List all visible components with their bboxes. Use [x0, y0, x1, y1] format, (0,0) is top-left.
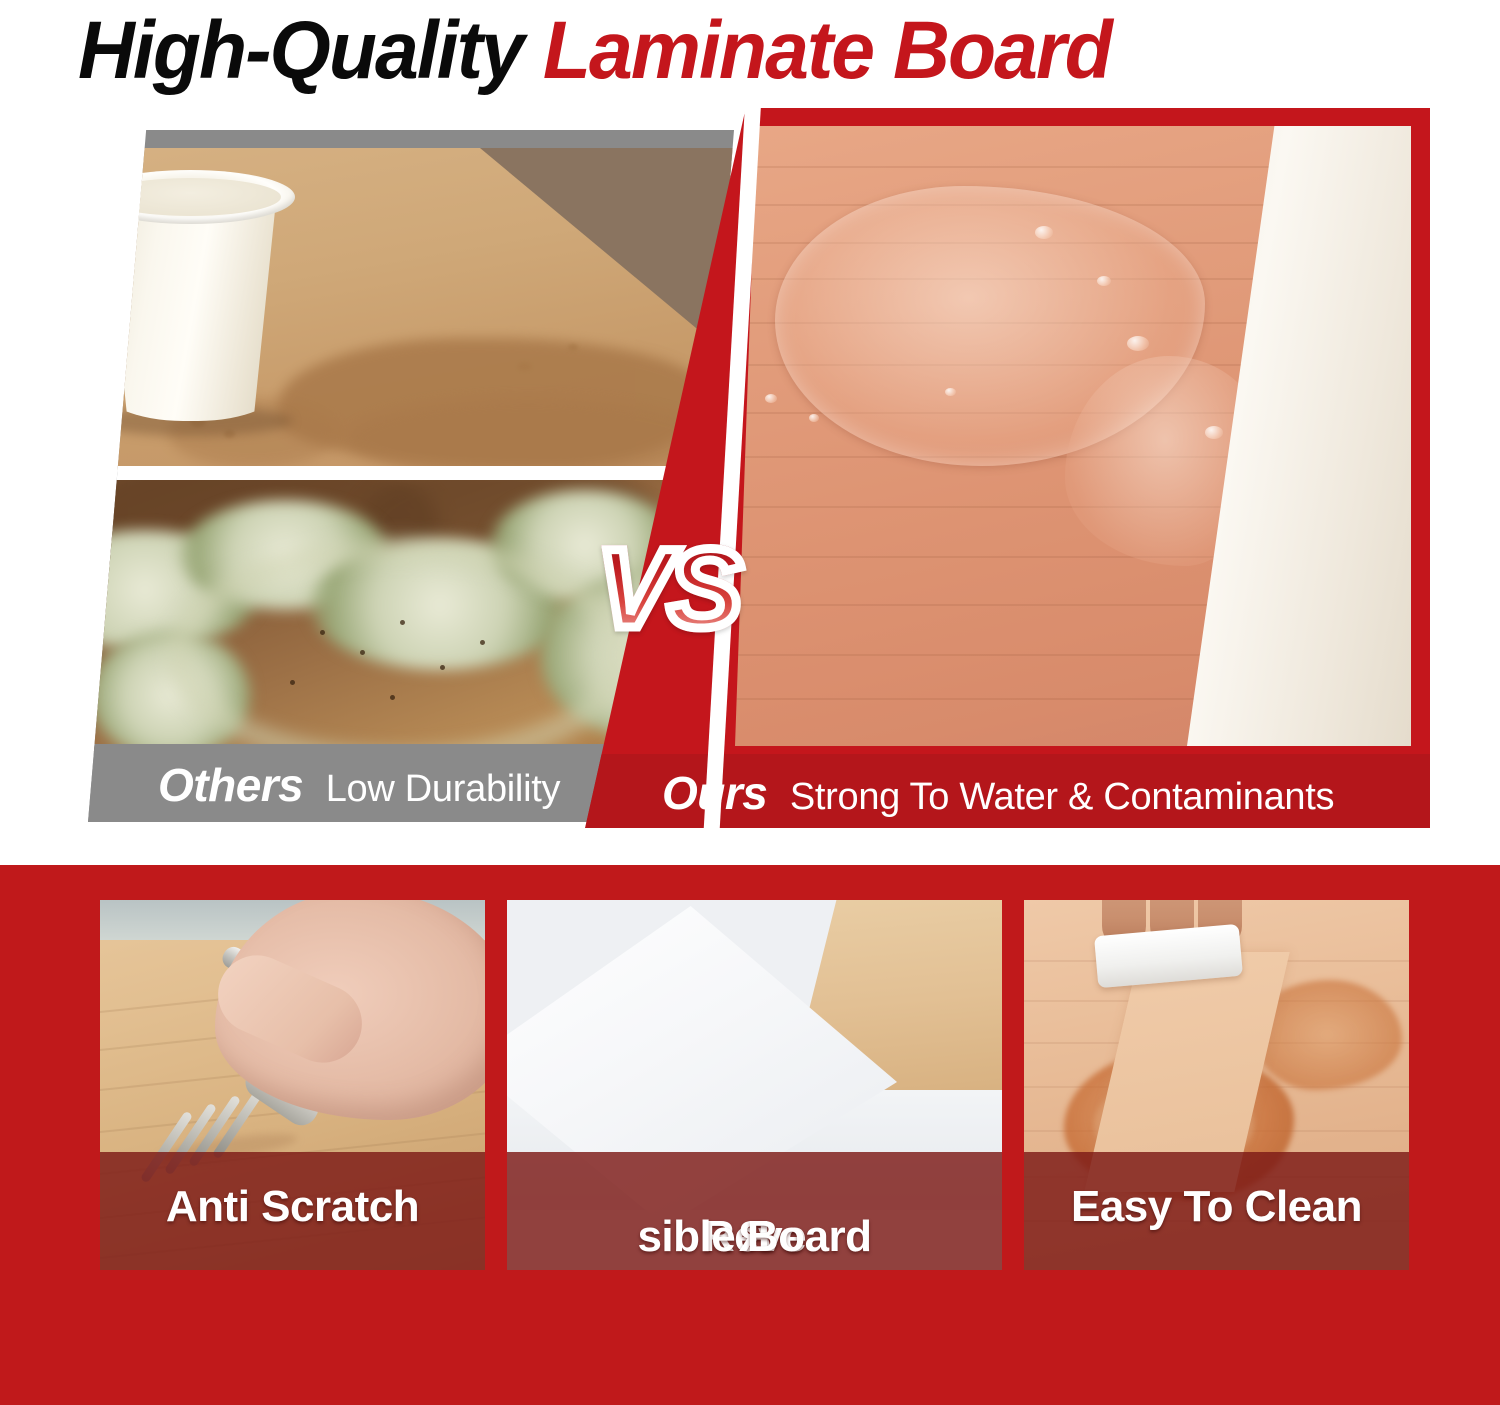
- feature-card-reversible-board[interactable]: ReveRsible Board: [507, 900, 1002, 1270]
- title-text: High-Quality Laminate Board: [78, 4, 1111, 98]
- comparison-section: Others Low Durability: [0, 108, 1500, 838]
- others-label: Others: [158, 759, 303, 811]
- feature-caption-text: Easy To Clean: [1024, 1182, 1409, 1232]
- water-bead: [765, 394, 777, 403]
- page-title: High-Quality Laminate Board: [0, 0, 1500, 108]
- droplet: [568, 344, 578, 351]
- mold-speck: [290, 680, 295, 685]
- droplet: [518, 362, 531, 371]
- water-bead: [1035, 226, 1053, 239]
- feature-card-easy-to-clean[interactable]: Easy To Clean: [1024, 900, 1409, 1270]
- cup-interior: [100, 178, 281, 216]
- others-description: Low Durability: [326, 768, 560, 810]
- spilled-drink-on-bare-board-photo: [88, 148, 734, 470]
- mold-speck: [480, 640, 485, 645]
- vs-badge: VS: [597, 533, 738, 645]
- ours-description: Strong To Water & Contaminants: [790, 776, 1334, 818]
- water-bead: [945, 388, 956, 396]
- mold-speck: [320, 630, 325, 635]
- feature-caption-text: Anti Scratch: [100, 1182, 485, 1232]
- water-bead: [1205, 426, 1223, 439]
- mold-speck: [360, 650, 365, 655]
- title-part-primary: High-Quality: [78, 5, 523, 96]
- liquid-stain: [348, 398, 708, 470]
- water-bead: [1097, 276, 1111, 286]
- caption-segment-after: sible Board: [507, 1212, 1002, 1262]
- water-beading-on-laminate-photo: [735, 126, 1411, 746]
- feature-caption-bar: Easy To Clean: [1024, 1152, 1409, 1270]
- feature-caption-bar: Anti Scratch: [100, 1152, 485, 1270]
- mold-speck: [390, 695, 395, 700]
- water-bead: [1127, 336, 1149, 351]
- mold-speck: [440, 665, 445, 670]
- mold-ring: [190, 560, 610, 750]
- mold-speck: [400, 620, 405, 625]
- feature-card-anti-scratch[interactable]: Anti Scratch: [100, 900, 485, 1270]
- title-part-accent: Laminate Board: [543, 5, 1111, 96]
- feature-caption-bar: ReveRsible Board: [507, 1152, 1002, 1270]
- features-band: Anti Scratch ReveRsible Board: [0, 865, 1500, 1405]
- ours-caption-text: Ours Strong To Water & Contaminants: [662, 766, 1334, 820]
- water-bead: [809, 414, 819, 422]
- others-caption-text: Others Low Durability: [158, 758, 560, 812]
